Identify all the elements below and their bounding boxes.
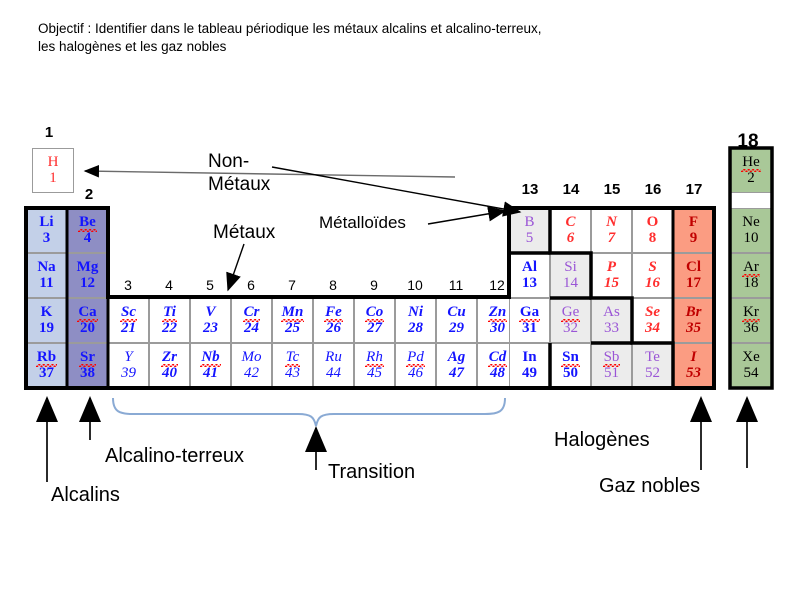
element-number: 47	[449, 366, 464, 381]
element-number: 40	[162, 366, 177, 381]
element-number: 7	[608, 231, 616, 246]
element-cell-s[interactable]: S16	[632, 253, 673, 298]
element-symbol: V	[205, 305, 215, 320]
element-number: 49	[522, 366, 537, 381]
label-metaux: Métaux	[213, 222, 275, 244]
element-number: 22	[162, 321, 177, 336]
element-symbol: Br	[686, 305, 702, 320]
element-number: 25	[285, 321, 300, 336]
element-cell-b[interactable]: B5	[509, 208, 550, 253]
element-symbol: K	[41, 305, 53, 320]
element-cell-cl[interactable]: Cl17	[673, 253, 714, 298]
element-symbol: Zr	[162, 350, 177, 365]
objective-line-1: Objectif : Identifier dans le tableau pé…	[38, 20, 658, 38]
element-symbol: Li	[39, 215, 53, 230]
element-symbol: Ge	[562, 305, 580, 320]
element-cell-fe[interactable]: Fe26	[313, 298, 354, 343]
element-symbol: Cu	[447, 305, 465, 320]
group-number-15: 15	[591, 181, 633, 198]
element-number: 10	[744, 231, 759, 246]
element-cell-co[interactable]: Co27	[354, 298, 395, 343]
element-symbol: He	[742, 155, 760, 170]
element-cell-in[interactable]: In49	[509, 343, 550, 388]
element-number: 18	[744, 276, 759, 291]
group-number-10: 10	[394, 277, 436, 293]
label-gaz-nobles: Gaz nobles	[599, 475, 700, 498]
group-number-2: 2	[68, 186, 110, 203]
element-symbol: Cr	[244, 305, 260, 320]
element-symbol: Cd	[489, 350, 507, 365]
group-number-9: 9	[353, 277, 395, 293]
element-symbol: B	[524, 215, 534, 230]
element-symbol: H	[48, 155, 59, 170]
element-cell-te[interactable]: Te52	[632, 343, 673, 388]
element-cell-as[interactable]: As33	[591, 298, 632, 343]
element-symbol: Sb	[604, 350, 620, 365]
element-number: 38	[80, 366, 95, 381]
element-cell-be[interactable]: Be4	[67, 208, 108, 253]
element-symbol: O	[647, 215, 659, 230]
element-symbol: Se	[645, 305, 660, 320]
element-symbol: Mo	[242, 350, 262, 365]
element-cell-sc[interactable]: Sc21	[108, 298, 149, 343]
label-transition: Transition	[328, 461, 415, 484]
label-non-metaux: Non- Métaux	[208, 150, 270, 196]
element-cell-ne[interactable]: Ne10	[730, 208, 772, 253]
element-symbol: Al	[522, 260, 537, 275]
element-cell-si[interactable]: Si14	[550, 253, 591, 298]
element-cell-v[interactable]: V23	[190, 298, 231, 343]
element-symbol: C	[565, 215, 575, 230]
element-number: 5	[526, 231, 534, 246]
element-symbol: Mn	[282, 305, 304, 320]
element-symbol: Na	[37, 260, 55, 275]
element-cell-y[interactable]: Y39	[108, 343, 149, 388]
arrow-metalloides	[428, 211, 505, 224]
group-number-6: 6	[230, 277, 272, 293]
element-number: 42	[244, 366, 259, 381]
element-symbol: Zn	[489, 305, 507, 320]
element-symbol: Rb	[37, 350, 56, 365]
element-cell-kr[interactable]: Kr36	[730, 298, 772, 343]
label-alcalino-terreux: Alcalino-terreux	[105, 445, 244, 468]
element-number: 51	[604, 366, 619, 381]
element-number: 23	[203, 321, 218, 336]
element-number: 24	[244, 321, 259, 336]
element-number: 31	[522, 321, 537, 336]
element-symbol: Sc	[121, 305, 136, 320]
element-cell-mo[interactable]: Mo42	[231, 343, 272, 388]
element-number: 48	[490, 366, 505, 381]
element-number: 26	[326, 321, 341, 336]
element-cell-ag[interactable]: Ag47	[436, 343, 477, 388]
element-symbol: F	[689, 215, 698, 230]
element-cell-i[interactable]: I53	[673, 343, 714, 388]
element-symbol: Fe	[325, 305, 342, 320]
element-number: 33	[604, 321, 619, 336]
element-number: 8	[649, 231, 657, 246]
element-cell-n[interactable]: N7	[591, 208, 632, 253]
element-number: 27	[367, 321, 382, 336]
element-symbol: Ne	[742, 215, 760, 230]
element-symbol: Sn	[562, 350, 579, 365]
element-cell-sr[interactable]: Sr38	[67, 343, 108, 388]
group-number-17: 17	[673, 181, 715, 198]
element-number: 13	[522, 276, 537, 291]
element-number: 16	[645, 276, 660, 291]
element-number: 54	[744, 366, 759, 381]
element-number: 6	[567, 231, 575, 246]
group-number-11: 11	[435, 277, 477, 293]
element-cell-cu[interactable]: Cu29	[436, 298, 477, 343]
element-symbol: Y	[124, 350, 132, 365]
element-number: 20	[80, 321, 95, 336]
element-symbol: Be	[79, 215, 96, 230]
element-cell-zr[interactable]: Zr40	[149, 343, 190, 388]
element-number: 14	[563, 276, 578, 291]
element-cell-nb[interactable]: Nb41	[190, 343, 231, 388]
element-symbol: Cl	[686, 260, 701, 275]
element-number: 52	[645, 366, 660, 381]
periodic-table-slide: Objectif : Identifier dans le tableau pé…	[0, 0, 800, 600]
element-cell-mn[interactable]: Mn25	[272, 298, 313, 343]
element-number: 45	[367, 366, 382, 381]
element-symbol: Kr	[743, 305, 759, 320]
group-number-14: 14	[550, 181, 592, 198]
element-number: 37	[39, 366, 54, 381]
element-number: 11	[39, 276, 53, 291]
element-cell-p[interactable]: P15	[591, 253, 632, 298]
transition-brace	[113, 398, 505, 426]
label-halogenes: Halogènes	[554, 429, 650, 452]
element-cell-sn[interactable]: Sn50	[550, 343, 591, 388]
element-cell-he[interactable]: He 2	[730, 148, 772, 193]
element-number: 36	[744, 321, 759, 336]
element-symbol: Ti	[163, 305, 176, 320]
element-number: 50	[563, 366, 578, 381]
element-cell-ni[interactable]: Ni28	[395, 298, 436, 343]
element-cell-br[interactable]: Br35	[673, 298, 714, 343]
group-number-13: 13	[509, 181, 551, 198]
element-number: 3	[43, 231, 51, 246]
element-symbol: Ar	[743, 260, 759, 275]
group-number-16: 16	[632, 181, 674, 198]
group-number-8: 8	[312, 277, 354, 293]
element-number: 1	[49, 171, 57, 186]
element-symbol: Te	[645, 350, 660, 365]
element-cell-c[interactable]: C6	[550, 208, 591, 253]
element-cell-cr[interactable]: Cr24	[231, 298, 272, 343]
label-metalloides: Métalloïdes	[319, 213, 406, 233]
element-symbol: Ca	[78, 305, 96, 320]
element-symbol: Xe	[742, 350, 760, 365]
element-number: 35	[686, 321, 701, 336]
element-cell-k[interactable]: K19	[26, 298, 67, 343]
element-number: 9	[690, 231, 698, 246]
element-cell-ru[interactable]: Ru44	[313, 343, 354, 388]
element-number: 30	[490, 321, 505, 336]
element-number: 39	[121, 366, 136, 381]
element-cell-xe[interactable]: Xe54	[730, 343, 772, 388]
element-symbol: Ru	[325, 350, 342, 365]
element-cell-o[interactable]: O8	[632, 208, 673, 253]
element-number: 19	[39, 321, 54, 336]
element-symbol: S	[648, 260, 656, 275]
element-symbol: Tc	[286, 350, 300, 365]
element-cell-pd[interactable]: Pd46	[395, 343, 436, 388]
objective-heading: Objectif : Identifier dans le tableau pé…	[38, 20, 658, 56]
element-symbol: Mg	[77, 260, 99, 275]
element-symbol: As	[603, 305, 620, 320]
element-cell-sb[interactable]: Sb51	[591, 343, 632, 388]
element-symbol: Sr	[80, 350, 95, 365]
element-number: 41	[203, 366, 218, 381]
element-cell-ca[interactable]: Ca20	[67, 298, 108, 343]
element-cell-se[interactable]: Se34	[632, 298, 673, 343]
element-number: 29	[449, 321, 464, 336]
element-cell-rb[interactable]: Rb37	[26, 343, 67, 388]
element-cell-ga[interactable]: Ga31	[509, 298, 550, 343]
element-cell-mg[interactable]: Mg12	[67, 253, 108, 298]
element-cell-tc[interactable]: Tc43	[272, 343, 313, 388]
group-number-4: 4	[148, 277, 190, 293]
element-symbol: Si	[564, 260, 577, 275]
group-number-3: 3	[107, 277, 149, 293]
element-cell-rh[interactable]: Rh45	[354, 343, 395, 388]
element-symbol: Ni	[408, 305, 423, 320]
label-alcalins: Alcalins	[51, 484, 120, 507]
element-symbol: Nb	[201, 350, 219, 365]
element-number: 32	[563, 321, 578, 336]
element-number: 43	[285, 366, 300, 381]
element-symbol: P	[607, 260, 616, 275]
element-cell-h[interactable]: H 1	[32, 148, 74, 193]
element-cell-li[interactable]: Li3	[26, 208, 67, 253]
element-symbol: Pd	[407, 350, 424, 365]
element-symbol: Rh	[366, 350, 383, 365]
element-number: 15	[604, 276, 619, 291]
element-symbol: In	[522, 350, 536, 365]
element-symbol: N	[606, 215, 617, 230]
element-cell-na[interactable]: Na11	[26, 253, 67, 298]
element-number: 28	[408, 321, 423, 336]
element-number: 53	[686, 366, 701, 381]
element-symbol: I	[691, 350, 697, 365]
element-cell-f[interactable]: F9	[673, 208, 714, 253]
element-number: 21	[121, 321, 136, 336]
element-cell-ge[interactable]: Ge32	[550, 298, 591, 343]
element-number: 17	[686, 276, 701, 291]
group-number-7: 7	[271, 277, 313, 293]
element-number: 2	[747, 171, 755, 186]
element-symbol: Co	[366, 305, 384, 320]
element-cell-ti[interactable]: Ti22	[149, 298, 190, 343]
element-symbol: Ag	[448, 350, 466, 365]
group-number-1: 1	[28, 124, 70, 141]
element-number: 34	[645, 321, 660, 336]
element-number: 12	[80, 276, 95, 291]
element-number: 4	[84, 231, 92, 246]
element-number: 44	[326, 366, 341, 381]
element-cell-al[interactable]: Al13	[509, 253, 550, 298]
element-symbol: Ga	[520, 305, 539, 320]
arrow-nonmetaux-to-block	[272, 167, 520, 212]
element-cell-ar[interactable]: Ar18	[730, 253, 772, 298]
objective-line-2: les halogènes et les gaz nobles	[38, 38, 658, 56]
group-number-5: 5	[189, 277, 231, 293]
element-number: 46	[408, 366, 423, 381]
